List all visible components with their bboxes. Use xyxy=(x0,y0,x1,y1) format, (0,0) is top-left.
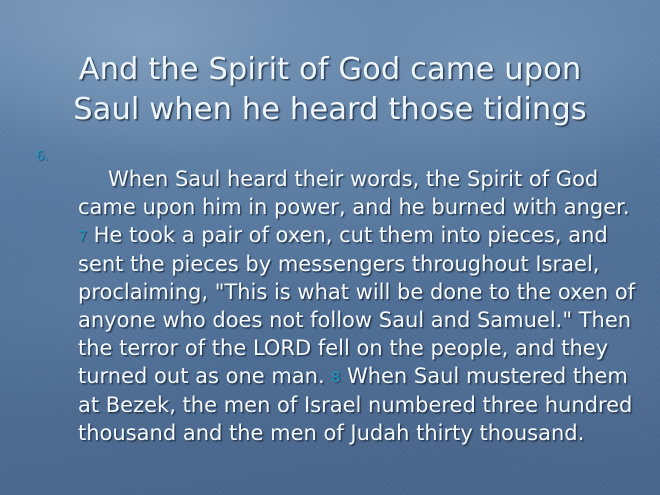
slide-title: And the Spirit of God came upon Saul whe… xyxy=(0,50,660,130)
presentation-slide: And the Spirit of God came upon Saul whe… xyxy=(0,0,660,495)
verse-number-8: 8 xyxy=(331,370,340,386)
verse-number-7: 7 xyxy=(78,229,87,245)
bullet-marker: 6. xyxy=(36,150,48,163)
slide-body-text: When Saul heard their words, the Spirit … xyxy=(78,166,638,448)
scripture-part-1: When Saul heard their words, the Spirit … xyxy=(78,167,630,219)
slide-body-block: 6. When Saul heard their words, the Spir… xyxy=(32,145,638,469)
